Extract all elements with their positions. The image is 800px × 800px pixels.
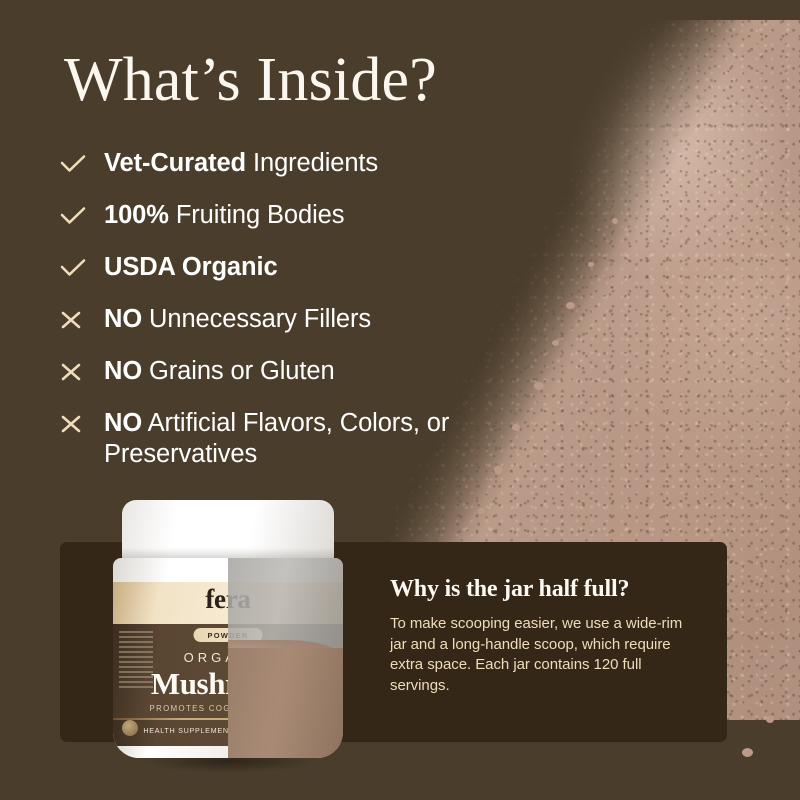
list-item-rest: Artificial Flavors, Colors, or Preservat… <box>104 409 449 468</box>
powder-speck <box>478 508 485 514</box>
list-item-emphasis: 100% <box>104 201 169 229</box>
list-item-label: NO Artificial Flavors, Colors, or Preser… <box>104 408 530 470</box>
jar-body: fera POWDER ORGANIC Mushrooms PROMOTES C… <box>113 558 343 758</box>
list-item: Vet-Curated Ingredients <box>60 148 530 190</box>
list-item-label: 100% Fruiting Bodies <box>104 200 344 231</box>
powder-speck <box>640 176 645 181</box>
powder-speck <box>566 302 575 309</box>
cross-icon <box>60 304 104 334</box>
list-item-rest: Grains or Gluten <box>142 357 334 385</box>
jar-base-highlight <box>113 746 228 758</box>
list-item-emphasis: USDA Organic <box>104 253 278 281</box>
powder-speck <box>534 382 544 390</box>
list-item-emphasis: NO <box>104 357 142 385</box>
powder-speck <box>700 96 705 100</box>
check-icon <box>60 252 104 282</box>
list-item-emphasis: NO <box>104 305 142 333</box>
page-title: What’s Inside? <box>64 48 437 114</box>
list-item-label: NO Grains or Gluten <box>104 356 335 387</box>
jar-powder-fill <box>228 648 343 758</box>
list-item-rest: Fruiting Bodies <box>169 201 345 229</box>
list-item-emphasis: NO <box>104 409 142 437</box>
info-card-heading: Why is the jar half full? <box>390 576 629 603</box>
list-item: NO Grains or Gluten <box>60 356 530 398</box>
powder-speck <box>612 218 618 224</box>
list-item-label: NO Unnecessary Fillers <box>104 304 371 335</box>
product-jar-image: fera POWDER ORGANIC Mushrooms PROMOTES C… <box>113 500 343 772</box>
info-card-body: To make scooping easier, we use a wide-r… <box>390 614 700 696</box>
cross-icon <box>60 408 104 438</box>
list-item-label: Vet-Curated Ingredients <box>104 148 378 179</box>
list-item-rest: Ingredients <box>246 149 378 177</box>
benefits-list: Vet-Curated Ingredients 100% Fruiting Bo… <box>60 148 530 480</box>
check-icon <box>60 200 104 230</box>
list-item-label: USDA Organic <box>104 252 278 283</box>
list-item: NO Unnecessary Fillers <box>60 304 530 346</box>
powder-speck <box>766 716 774 723</box>
powder-speck <box>588 262 594 267</box>
check-icon <box>60 148 104 178</box>
list-item-rest: Unnecessary Fillers <box>142 305 371 333</box>
powder-speck <box>552 340 559 346</box>
list-item: USDA Organic <box>60 252 530 294</box>
powder-speck <box>742 748 753 757</box>
cross-icon <box>60 356 104 386</box>
list-item-emphasis: Vet-Curated <box>104 149 246 177</box>
powder-speck <box>672 132 678 137</box>
list-item: NO Artificial Flavors, Colors, or Preser… <box>60 408 530 470</box>
list-item: 100% Fruiting Bodies <box>60 200 530 242</box>
